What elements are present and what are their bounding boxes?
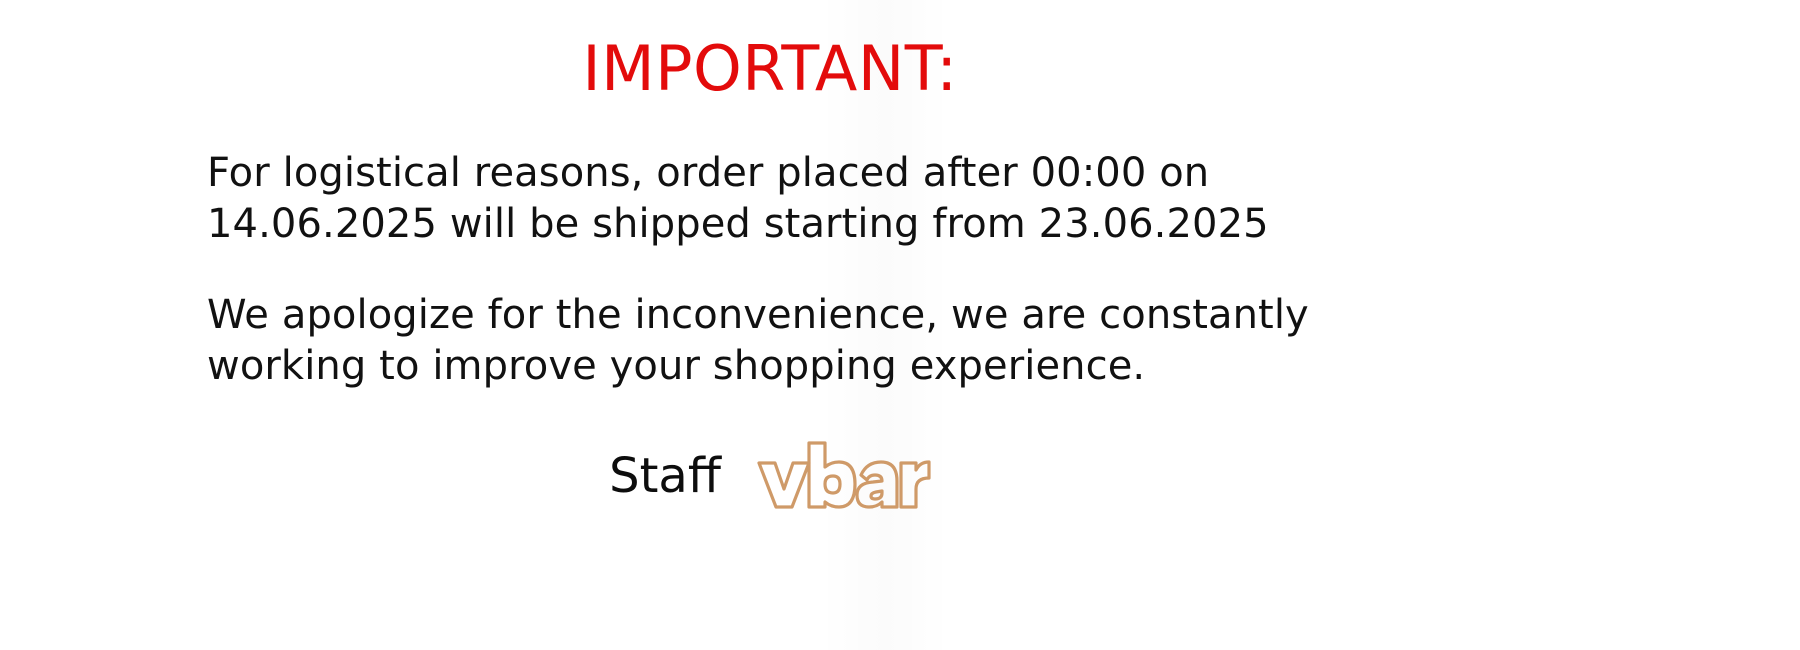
paragraph-line: For logistical reasons, order placed aft…	[207, 148, 1407, 199]
paragraph-apology: We apologize for the inconvenience, we a…	[207, 290, 1407, 392]
signature-label: Staff	[609, 448, 721, 504]
signature-block: Staff	[0, 437, 1540, 515]
vbar-logo-icon	[751, 437, 931, 515]
notice-page: IMPORTANT: For logistical reasons, order…	[0, 0, 1800, 650]
page-title: IMPORTANT:	[0, 36, 1540, 101]
paragraph-line: working to improve your shopping experie…	[207, 341, 1407, 392]
paragraph-line: 14.06.2025 will be shipped starting from…	[207, 199, 1407, 250]
paragraph-shipping-delay: For logistical reasons, order placed aft…	[207, 148, 1407, 250]
notice-body: For logistical reasons, order placed aft…	[207, 148, 1407, 392]
paragraph-line: We apologize for the inconvenience, we a…	[207, 290, 1407, 341]
